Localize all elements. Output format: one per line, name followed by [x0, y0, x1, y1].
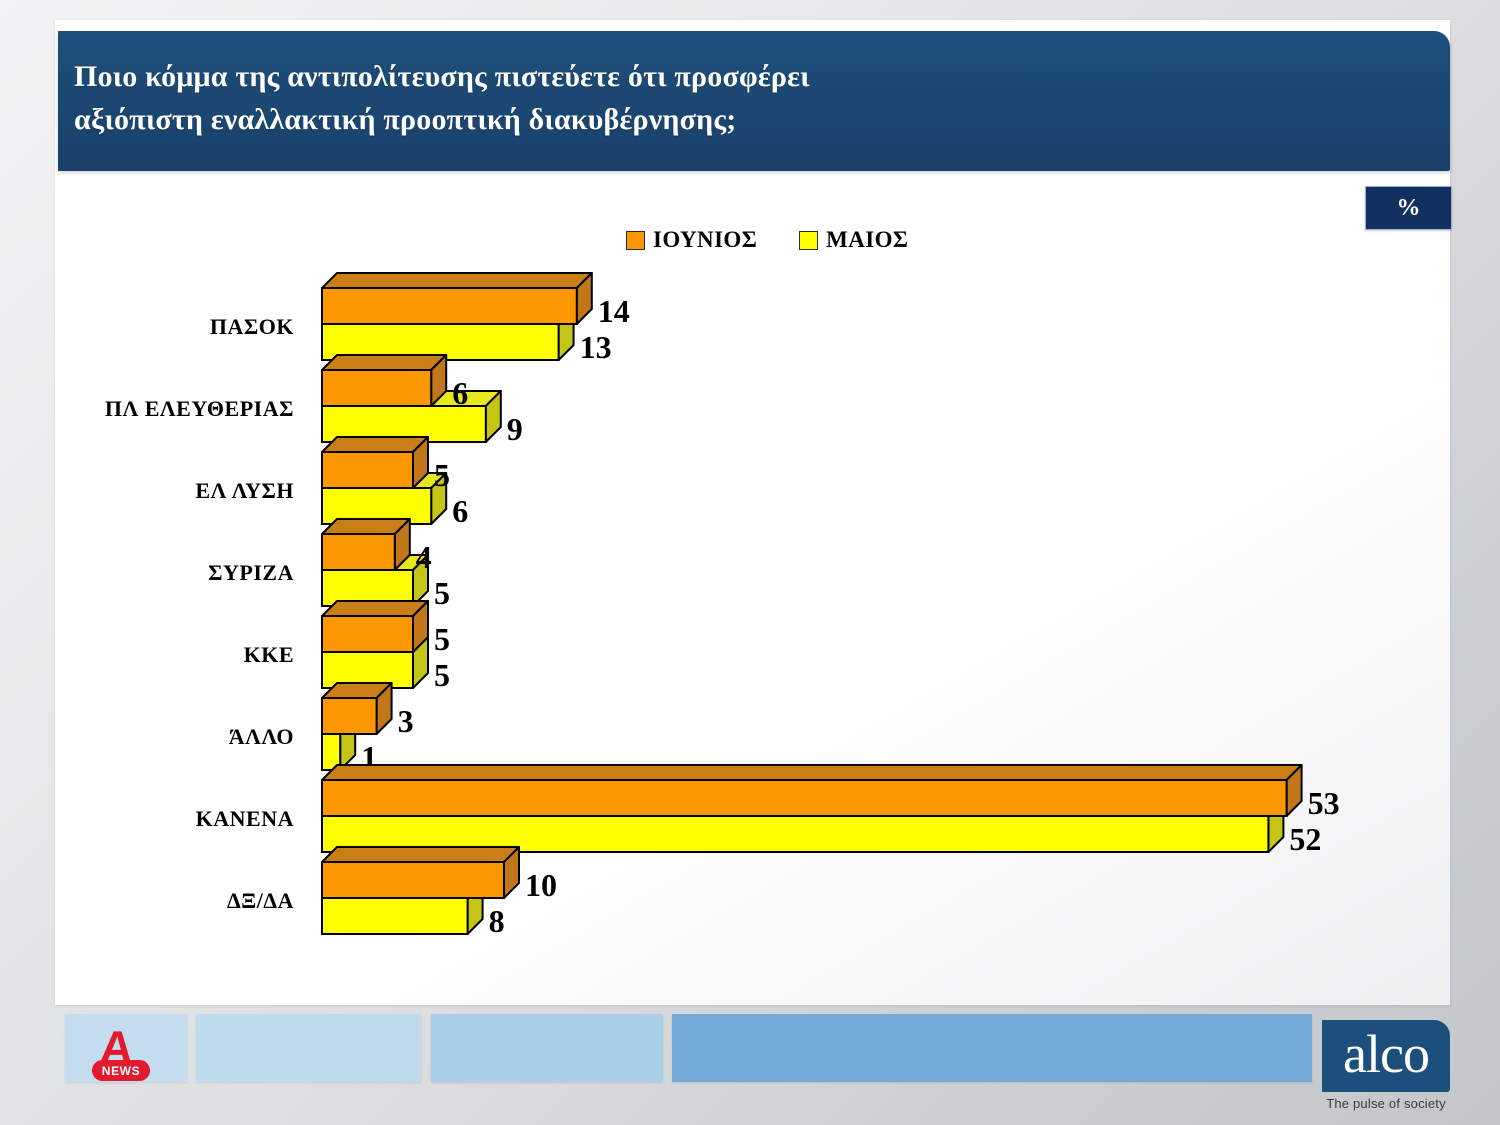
legend-swatch-iounios — [626, 231, 645, 250]
title-bar: Ποιο κόμμα της αντιπολίτευσης πιστεύετε … — [58, 31, 1450, 171]
anews-badge-label: NEWS — [102, 1064, 140, 1078]
chart-legend: ΙΟΥΝΙΟΣ ΜΑΙΟΣ — [626, 227, 908, 253]
page-title-line2: αξιόπιστη εναλλακτική προοπτική διακυβέρ… — [74, 99, 1420, 142]
alco-tagline: The pulse of society — [1322, 1096, 1450, 1111]
legend-item-maios[interactable]: ΜΑΙΟΣ — [799, 227, 908, 253]
page-title: Ποιο κόμμα της αντιπολίτευσης πιστεύετε … — [74, 56, 1420, 141]
anews-badge: NEWS — [92, 1060, 150, 1081]
anews-logo: A NEWS — [92, 1024, 162, 1082]
legend-label-maios: ΜΑΙΟΣ — [826, 227, 908, 253]
page-title-line1: Ποιο κόμμα της αντιπολίτευσης πιστεύετε … — [74, 56, 1420, 99]
footer-bar-3 — [431, 1014, 663, 1082]
slide-footer: A NEWS alco The pulse of society — [0, 1008, 1500, 1125]
legend-label-iounios: ΙΟΥΝΙΟΣ — [653, 227, 757, 253]
alco-logo: alco The pulse of society — [1322, 1020, 1450, 1092]
alco-logo-box: alco — [1322, 1020, 1450, 1092]
footer-bar-4 — [672, 1014, 1312, 1082]
alco-logo-name: alco — [1343, 1027, 1429, 1081]
legend-item-iounios[interactable]: ΙΟΥΝΙΟΣ — [626, 227, 757, 253]
footer-bar-2 — [196, 1014, 421, 1082]
unit-badge: % — [1365, 186, 1452, 230]
legend-swatch-maios — [799, 231, 818, 250]
